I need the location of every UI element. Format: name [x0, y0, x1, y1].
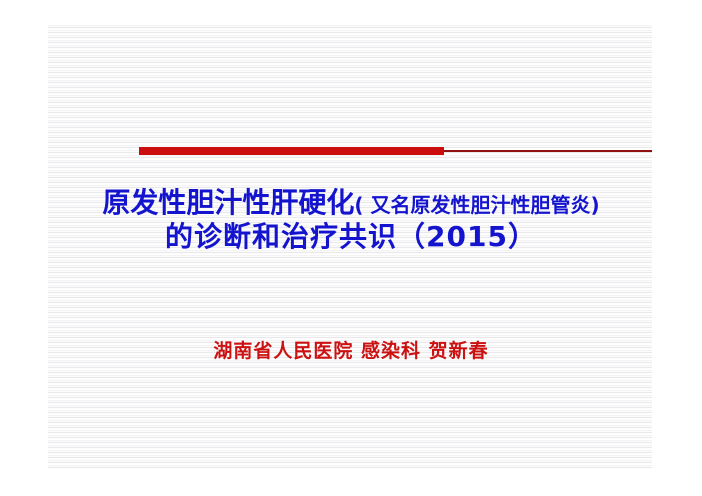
title-parenthetical-text: ( 又名原发性胆汁性胆管炎)	[354, 193, 599, 217]
title-line-2: 的诊断和治疗共识（2015）	[0, 220, 702, 254]
decorative-thick-bar	[139, 147, 444, 155]
decorative-thin-rule	[139, 150, 652, 152]
title-line-1: 原发性胆汁性肝硬化( 又名原发性胆汁性胆管炎)	[0, 186, 702, 220]
slide-title: 原发性胆汁性肝硬化( 又名原发性胆汁性胆管炎) 的诊断和治疗共识（2015）	[0, 186, 702, 254]
presenter-byline: 湖南省人民医院 感染科 贺新春	[0, 336, 702, 363]
slide-canvas: 原发性胆汁性肝硬化( 又名原发性胆汁性胆管炎) 的诊断和治疗共识（2015） 湖…	[0, 0, 702, 496]
title-main-text: 原发性胆汁性肝硬化	[102, 186, 354, 219]
